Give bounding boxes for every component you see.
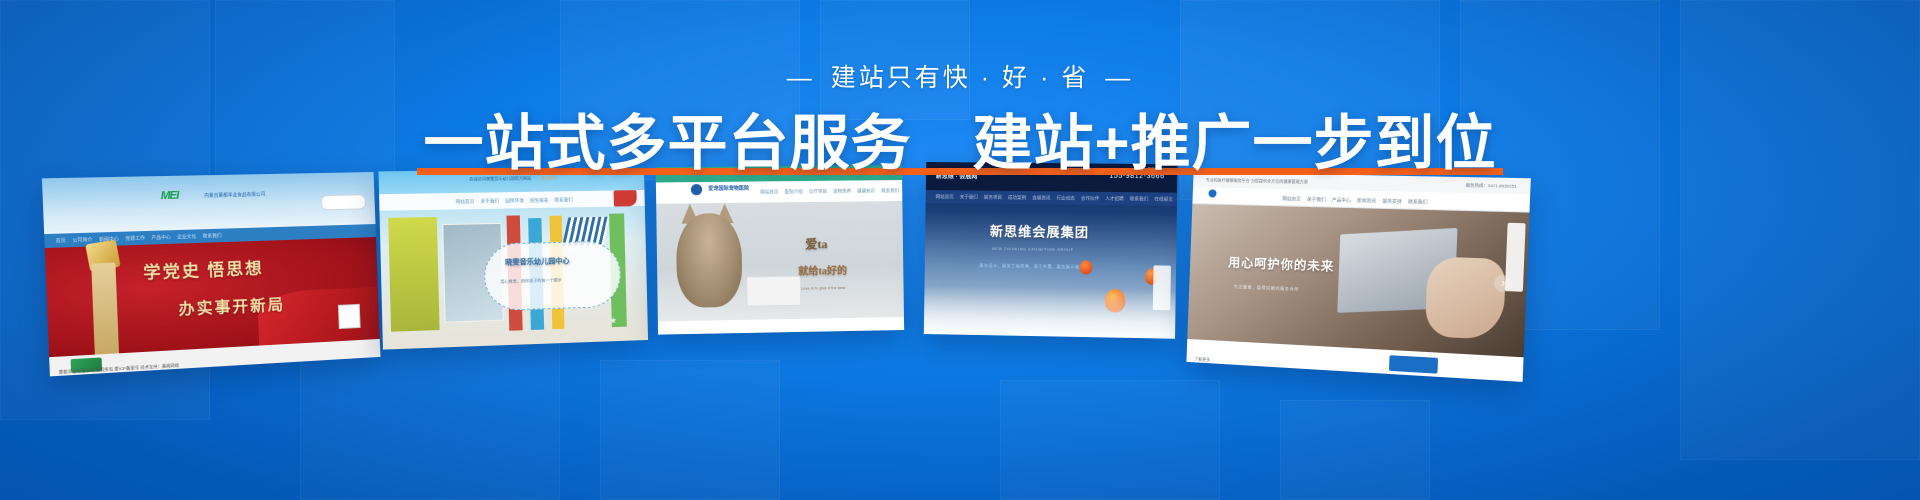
nav-item[interactable]: 服务支持 (1382, 198, 1401, 205)
nav-item[interactable]: 合作伙伴 (1081, 196, 1099, 202)
subtitle-dash-right: — (1105, 64, 1133, 93)
nav-item[interactable]: 人才招聘 (1105, 196, 1123, 202)
nav-item[interactable]: 诊疗项目 (809, 188, 827, 194)
site-nav-list: 网站首页 医院介绍 诊疗项目 宠物寄养 健康知识 联系我们 (656, 183, 902, 201)
hero-slogan-line1: 新思维会展集团 (990, 221, 1089, 241)
subtitle-text: 建站只有快 · 好 · 省 (831, 64, 1089, 92)
consult-button[interactable] (1389, 355, 1438, 374)
nav-item[interactable]: 招生报名 (530, 198, 549, 204)
showcase-card-party-history[interactable]: MEI 内蒙古蒙都羊业食品有限公司 首页 公司简介 新闻中心 党建工作 产品中心… (42, 172, 381, 376)
nav-item[interactable]: 关于我们 (960, 195, 978, 201)
nav-item[interactable]: 企业文化 (177, 234, 196, 241)
nav-item[interactable]: 健康知识 (857, 188, 875, 194)
qr-code-icon (338, 304, 361, 329)
banner-subtitle: —建站只有快 · 好 · 省— (0, 58, 1920, 94)
nav-item[interactable]: 服务项目 (984, 195, 1002, 201)
site-screenshot: 新思维 · 会展网 服务热线 155-9812-3666 网站首页 关于我们 服… (924, 162, 1178, 339)
nav-item[interactable]: 党建工作 (125, 235, 145, 242)
nav-item[interactable]: 医院介绍 (785, 189, 803, 195)
banner-title-wrap: 一站式多平台服务 建站+推广一步到位 (423, 110, 1496, 177)
nav-item[interactable]: 联系我们 (1408, 199, 1428, 206)
brand-logo-mei: MEI (160, 189, 178, 202)
site-screenshot: 欢迎访问晓雯音乐幼儿园官方网站 会员中心 网站首页 关于我们 园所环境 招生报名… (378, 168, 648, 350)
side-contact-rail[interactable] (1153, 265, 1171, 311)
banner-headings: —建站只有快 · 好 · 省— 一站式多平台服务 建站+推广一步到位 (0, 0, 1920, 177)
nav-item[interactable]: 产品中心 (151, 235, 171, 242)
nav-item[interactable]: 宠物寄养 (833, 188, 851, 194)
site-footer (658, 330, 904, 335)
hero-slogan-line1: 晓雯音乐幼儿园中心 (505, 256, 570, 268)
nav-item[interactable]: 园所环境 (505, 198, 524, 204)
nav-item[interactable]: 网站首页 (760, 189, 778, 195)
hero-slogan-sub: Love is to give it the best (801, 285, 845, 291)
nav-item[interactable]: 关于我们 (480, 198, 499, 204)
nav-item[interactable]: 产品中心 (1332, 197, 1351, 204)
balloon-icon (1080, 261, 1092, 275)
hero-slogan-line1: 学党史 悟思想 (143, 254, 264, 284)
pet-bowl-stand (747, 276, 802, 307)
nav-item[interactable]: 网站首页 (455, 199, 474, 205)
site-screenshot: 专业的医疗健康服务平台 为您提供全方位的健康管理方案 服务热线：0471-693… (1186, 172, 1530, 382)
nav-item[interactable]: 网站首页 (1282, 196, 1301, 203)
nav-item[interactable]: 网站首页 (936, 194, 954, 200)
showcase-card-strip: MEI 内蒙古蒙都羊业食品有限公司 首页 公司简介 新闻中心 党建工作 产品中心… (0, 150, 1920, 410)
cat-photo (676, 213, 742, 307)
hero-slogan-line1: 爱ta (805, 235, 827, 252)
search-input[interactable] (321, 194, 365, 210)
nav-item[interactable]: 联系我们 (1130, 196, 1149, 202)
nav-item[interactable]: 联系我们 (881, 188, 899, 194)
showcase-card-pet-care[interactable]: 专注宠物健康与营养 呵护每一个毛孩子 爱宠国际宠物医院 网站首页 医院介绍 诊疗… (656, 165, 904, 335)
cloud-speech-bubble (483, 241, 621, 311)
header-hotline: 服务热线：0471-6930251 (1466, 182, 1517, 189)
site-screenshot: MEI 内蒙古蒙都羊业食品有限公司 首页 公司简介 新闻中心 党建工作 产品中心… (42, 172, 381, 376)
nav-item[interactable]: 联系我们 (554, 197, 572, 203)
header-text: 专业的医疗健康服务平台 为您提供全方位的健康管理方案 (1206, 177, 1308, 185)
subtitle-dash-left: — (787, 64, 815, 93)
nav-item[interactable]: 联系我们 (203, 233, 222, 240)
showcase-card-kindergarten[interactable]: 欢迎访问晓雯音乐幼儿园官方网站 会员中心 网站首页 关于我们 园所环境 招生报名… (378, 168, 648, 350)
showcase-card-medical-care[interactable]: 专业的医疗健康服务平台 为您提供全方位的健康管理方案 服务热线：0471-693… (1186, 172, 1530, 382)
nav-item[interactable]: 新闻资讯 (1357, 198, 1376, 205)
nav-item[interactable]: 关于我们 (1307, 196, 1326, 203)
monument-icon (91, 263, 119, 358)
city-skyline-fog (924, 286, 1176, 339)
nav-item[interactable]: 在线留言 (1154, 197, 1173, 203)
showcase-card-exhibition-group[interactable]: 新思维 · 会展网 服务热线 155-9812-3666 网站首页 关于我们 服… (924, 162, 1178, 339)
banner-title: 一站式多平台服务 建站+推广一步到位 (423, 110, 1496, 177)
nav-item[interactable]: 行业动态 (1056, 196, 1074, 202)
nav-item[interactable]: 成功案例 (1008, 195, 1026, 201)
site-nav-list: 网站首页 关于我们 服务项目 成功案例 会展资讯 行业动态 合作伙伴 人才招聘 … (926, 190, 1177, 207)
building-wall (388, 217, 440, 332)
brand-logo-icon (614, 190, 638, 206)
site-screenshot: 专注宠物健康与营养 呵护每一个毛孩子 爱宠国际宠物医院 网站首页 医院介绍 诊疗… (656, 165, 904, 335)
nav-item[interactable]: 首页 (56, 238, 66, 245)
nav-item[interactable]: 会展资讯 (1032, 195, 1050, 201)
hero-slogan-line2: 就给ta好的 (798, 262, 847, 278)
